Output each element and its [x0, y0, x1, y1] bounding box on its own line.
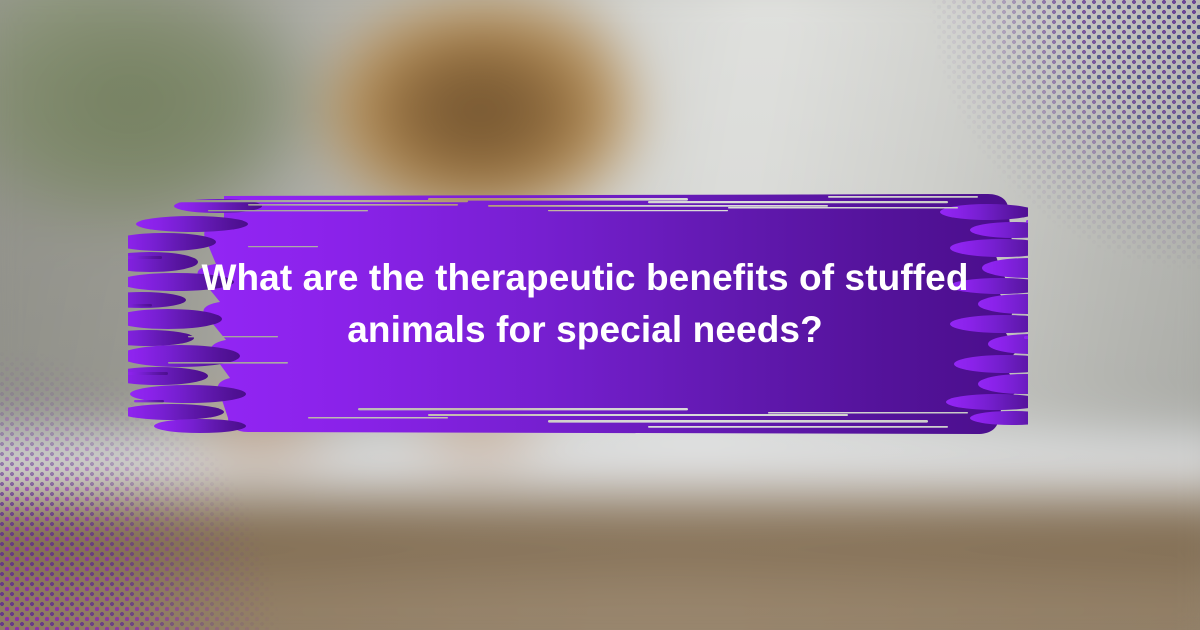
headline-line-2: animals for special needs?	[190, 304, 980, 356]
headline-line-1: What are the therapeutic benefits of stu…	[190, 252, 980, 304]
headline-text: What are the therapeutic benefits of stu…	[190, 252, 980, 356]
og-image-canvas: What are the therapeutic benefits of stu…	[0, 0, 1200, 630]
